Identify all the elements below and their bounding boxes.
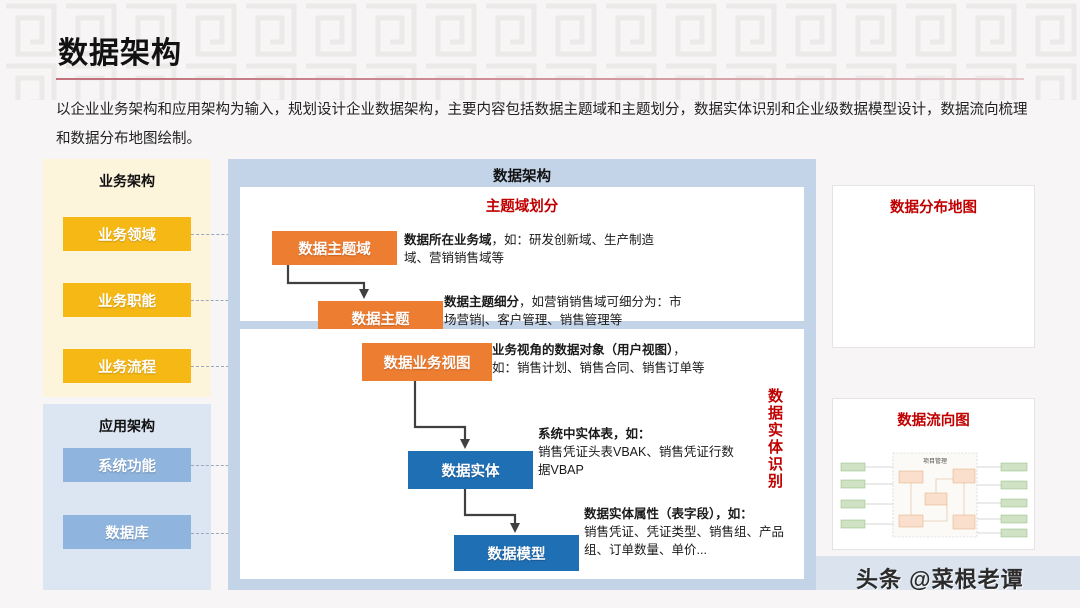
note-data-entity-rest: 销售凭证头表VBAK、销售凭证行数据VBAP xyxy=(538,445,734,477)
note-subject: 数据主题细分，如营销销售域可细分为：市场营销|、客户管理、销售管理等 xyxy=(444,293,694,329)
data-distribution-map-title: 数据分布地图 xyxy=(833,186,1034,217)
node-data-business-view[interactable]: 数据业务视图 xyxy=(362,343,492,381)
application-architecture-header: 应用架构 xyxy=(43,404,211,436)
svg-text:项目管理: 项目管理 xyxy=(923,457,947,465)
note-data-model-rest: 销售凭证、凭证类型、销售组、产品组、订单数量、单价... xyxy=(584,525,784,557)
application-architecture-panel: 应用架构 系统功能 数据库 xyxy=(43,404,211,590)
business-architecture-header: 业务架构 xyxy=(43,159,211,191)
note-subject-domain-bold: 数据所在业务域 xyxy=(404,233,492,247)
data-entity-identification-label: 数据实体识别 xyxy=(762,388,784,490)
node-data-entity[interactable]: 数据实体 xyxy=(408,451,533,489)
data-entity-card: 数据业务视图 数据实体 数据模型 业务视角的数据对象（用户视图），如：销售计划、… xyxy=(240,329,804,579)
data-architecture-title: 数据架构 xyxy=(228,165,816,186)
note-data-entity-bold: 系统中实体表，如： xyxy=(538,427,651,441)
title-divider xyxy=(56,78,1024,80)
node-data-model[interactable]: 数据模型 xyxy=(454,535,579,571)
business-architecture-panel: 业务架构 业务领域 业务职能 业务流程 xyxy=(43,159,211,397)
page-title: 数据架构 xyxy=(58,28,182,72)
note-data-entity: 系统中实体表，如：销售凭证头表VBAK、销售凭证行数据VBAP xyxy=(538,425,743,479)
application-item-system-function[interactable]: 系统功能 xyxy=(63,448,191,482)
slide-canvas: 数据架构 以企业业务架构和应用架构为输入，规划设计企业数据架构，主要内容包括数据… xyxy=(0,0,1080,608)
data-flow-diagram-panel[interactable]: 数据流向图 项目管理 xyxy=(832,398,1035,550)
business-item-function[interactable]: 业务职能 xyxy=(63,283,191,317)
data-flow-diagram-title: 数据流向图 xyxy=(833,399,1034,430)
data-distribution-map-panel[interactable]: 数据分布地图 xyxy=(832,185,1035,348)
watermark-text: 头条 @菜根老谭 xyxy=(856,562,1024,594)
note-business-view: 业务视角的数据对象（用户视图），如：销售计划、销售合同、销售订单等 xyxy=(492,341,707,377)
node-data-subject-domain[interactable]: 数据主题域 xyxy=(272,231,397,265)
data-architecture-panel: 数据架构 主题域划分 数据主题域 数据主题 数据所在业务域，如：研发创新域、生产… xyxy=(228,159,816,590)
subject-domain-card: 主题域划分 数据主题域 数据主题 数据所在业务域，如：研发创新域、生产制造域、营… xyxy=(240,187,804,321)
note-subject-domain: 数据所在业务域，如：研发创新域、生产制造域、营销销售域等 xyxy=(404,231,664,267)
note-data-model-bold: 数据实体属性（表字段），如： xyxy=(584,507,753,521)
note-data-model: 数据实体属性（表字段），如：销售凭证、凭证类型、销售组、产品组、订单数量、单价.… xyxy=(584,505,794,559)
application-item-database[interactable]: 数据库 xyxy=(63,515,191,549)
note-business-view-bold: 业务视角的数据对象（用户视图） xyxy=(492,343,673,357)
note-subject-bold: 数据主题细分 xyxy=(444,295,519,309)
business-item-domain[interactable]: 业务领域 xyxy=(63,217,191,251)
intro-paragraph: 以企业业务架构和应用架构为输入，规划设计企业数据架构，主要内容包括数据主题域和主… xyxy=(56,96,1031,154)
data-flow-thumbnail: 项目管理 xyxy=(837,445,1032,545)
business-item-process[interactable]: 业务流程 xyxy=(63,349,191,383)
